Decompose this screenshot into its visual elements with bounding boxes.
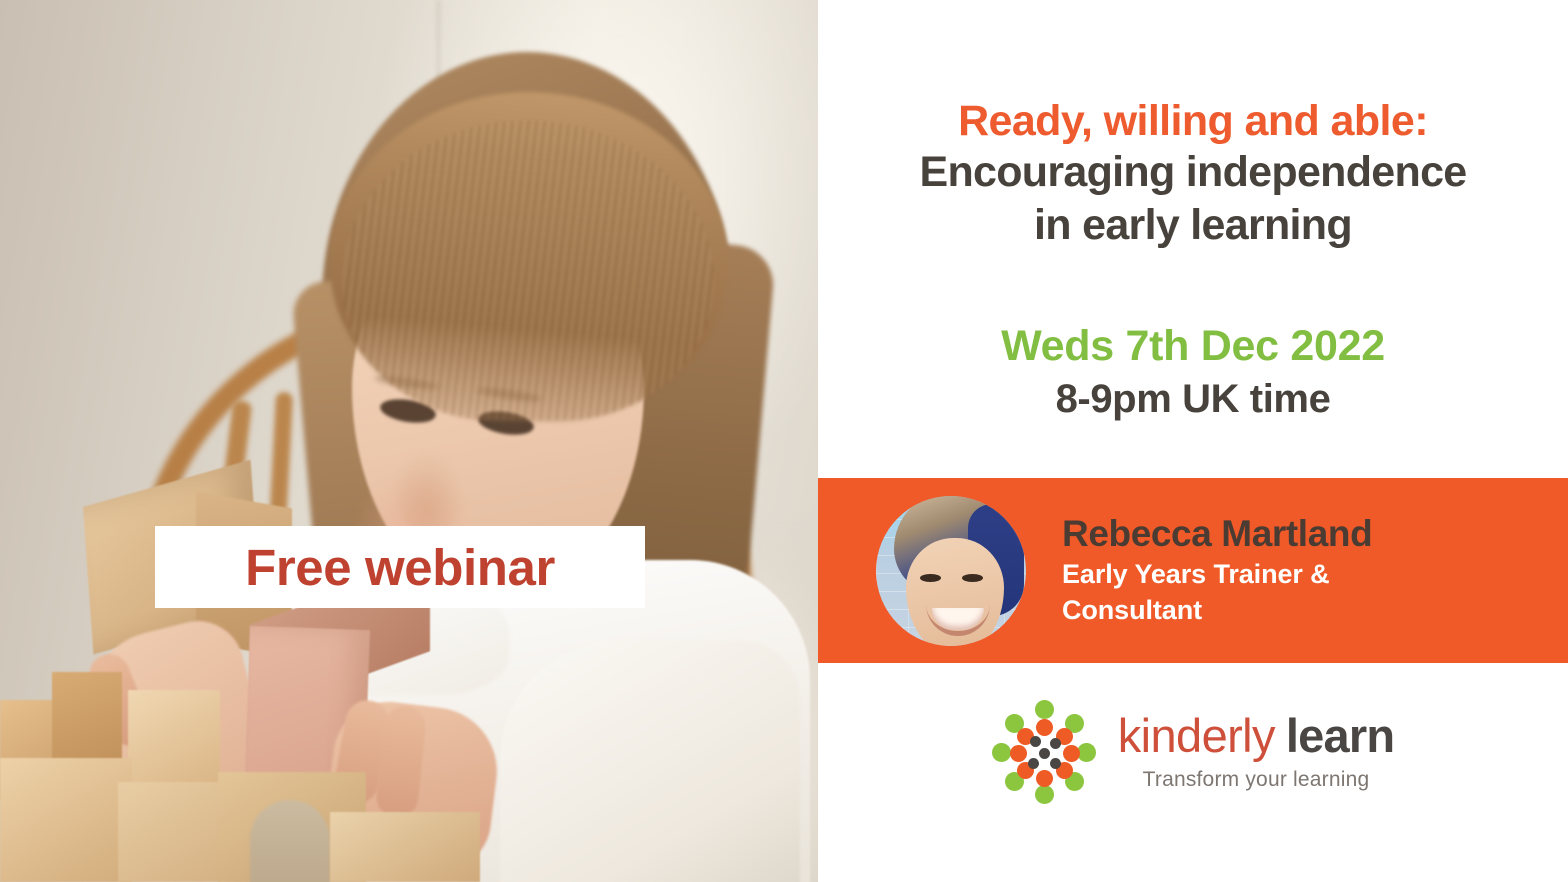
headline-subtitle-line1: Encouraging independence — [828, 148, 1558, 197]
kinderly-dot-mark-icon — [992, 700, 1096, 804]
content-panel: Ready, willing and able: Encouraging ind… — [818, 0, 1568, 882]
speaker-banner: Rebecca Martland Early Years Trainer & C… — [818, 478, 1568, 663]
brand-logo: kinderly learn Transform your learning — [818, 700, 1568, 804]
avatar-eye-left — [920, 574, 941, 582]
speaker-role-line2: Consultant — [1062, 594, 1372, 627]
speaker-role-line1: Early Years Trainer & — [1062, 558, 1372, 591]
speaker-name: Rebecca Martland — [1062, 514, 1372, 555]
photo-scene — [0, 0, 818, 882]
speaker-avatar — [876, 496, 1026, 646]
logo-wordmark: kinderly learn — [1118, 712, 1395, 759]
avatar-eye-right — [962, 574, 983, 582]
wooden-block — [128, 690, 220, 790]
webinar-date: Weds 7th Dec 2022 — [818, 322, 1568, 370]
headline-subtitle-line2: in early learning — [828, 201, 1558, 250]
logo-tagline: Transform your learning — [1118, 768, 1395, 792]
webinar-poster: Free webinar Ready, willing and able: En… — [0, 0, 1568, 882]
headline-block: Ready, willing and able: Encouraging ind… — [818, 98, 1568, 250]
logo-wordmark-group: kinderly learn Transform your learning — [1118, 712, 1395, 792]
free-webinar-badge: Free webinar — [155, 526, 645, 608]
free-webinar-label: Free webinar — [245, 542, 555, 593]
speaker-details: Rebecca Martland Early Years Trainer & C… — [1062, 514, 1372, 627]
logo-word-kinderly: kinderly — [1118, 712, 1275, 759]
webinar-time: 8-9pm UK time — [818, 376, 1568, 422]
wooden-block — [0, 758, 132, 882]
schedule-block: Weds 7th Dec 2022 8-9pm UK time — [818, 322, 1568, 422]
hero-photo: Free webinar — [0, 0, 818, 882]
child-nose — [396, 452, 464, 534]
headline-title: Ready, willing and able: — [828, 98, 1558, 144]
wooden-block — [330, 812, 480, 882]
child-sleeve — [500, 640, 800, 882]
logo-word-learn: learn — [1286, 712, 1394, 759]
wooden-block-arch-opening — [250, 800, 330, 882]
